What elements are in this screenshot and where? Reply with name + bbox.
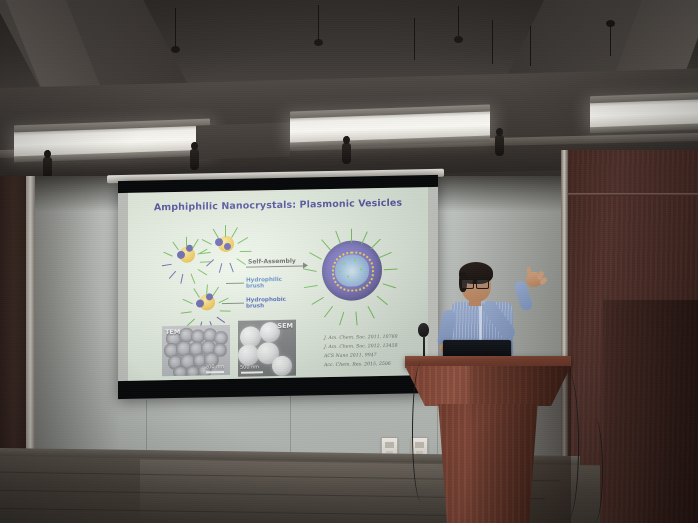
ceiling-drop-knob	[171, 46, 180, 53]
plasmonic-vesicle-figure	[314, 232, 390, 309]
polymer-brush	[309, 252, 322, 260]
polymer-brush	[220, 310, 231, 312]
ceiling-drop-knob	[454, 36, 463, 43]
spotlight	[43, 157, 52, 178]
polymer-brush	[231, 227, 238, 238]
hydrophobic-brush	[180, 274, 183, 284]
tem-micrograph: TEM 200 nm	[162, 325, 230, 376]
tem-scalebar-label: 200 nm	[205, 364, 224, 370]
sem-scalebar	[241, 371, 263, 373]
slide-references: J. Am. Chem. Soc. 2011, 10760 J. Am. Che…	[324, 334, 398, 371]
self-assembly-arrow-line	[246, 266, 304, 268]
polymer-brush	[172, 241, 179, 250]
hydrophobic-label-line2: brush	[246, 304, 264, 310]
ceiling-drop-rod	[458, 6, 459, 40]
polymer-brush	[213, 228, 220, 238]
polymer-brush	[367, 306, 375, 319]
polymer-brush	[193, 288, 200, 298]
sem-particle	[272, 356, 292, 376]
vesicle-inner-dot	[343, 263, 345, 265]
polymer-brush	[197, 269, 207, 276]
polymer-brush	[321, 239, 331, 250]
spotlight	[190, 149, 199, 170]
wood-column-left-trim	[26, 176, 35, 476]
polymer-brush	[236, 258, 246, 265]
wall-seam	[146, 400, 147, 456]
polymer-brush	[237, 237, 248, 244]
polymer-brush	[382, 283, 396, 288]
glasses-lens-left	[461, 279, 474, 289]
ceiling-drop-rod	[414, 18, 415, 60]
nanoparticle-figure-3	[190, 285, 224, 320]
polymer-brush	[311, 297, 324, 305]
wood-panel-shadow	[603, 300, 698, 523]
hydrophobic-brush-label: Hydrophobic brush	[246, 297, 286, 311]
hydrophilic-label-line2: brush	[246, 284, 264, 290]
hydrophobic-brush	[216, 317, 225, 324]
microphone-head	[418, 323, 429, 337]
hydrophilic-leader-line	[226, 283, 244, 284]
polymer-brush	[181, 311, 192, 314]
power-cable-right	[556, 370, 579, 520]
hydrophobic-label-line1: Hydrophobic	[246, 297, 286, 304]
lecture-hall-photo: Amphiphilic Nanocrystals: Plasmonic Vesi…	[0, 0, 698, 523]
nanoparticle-figure-2	[209, 227, 243, 262]
sem-micrograph: SEM 500 nm	[238, 320, 296, 377]
presentation-slide: Amphiphilic Nanocrystals: Plasmonic Vesi…	[128, 187, 428, 381]
glasses-icon	[461, 279, 491, 287]
hydrophilic-label-line1: Hydrophilic	[246, 277, 282, 284]
polymer-brush	[384, 269, 398, 271]
ceiling-drop-knob	[314, 39, 323, 46]
polymer-brush	[378, 252, 392, 259]
projector-screen: Amphiphilic Nanocrystals: Plasmonic Vesi…	[118, 175, 438, 399]
slide-letterbox-left	[118, 193, 128, 381]
polymer-brush	[190, 273, 195, 284]
polymer-brush	[304, 285, 318, 289]
self-assembly-label: Self-Assembly	[248, 258, 296, 266]
power-cable-far-right	[586, 418, 603, 523]
wall-seam	[290, 392, 291, 456]
reference-item: Acc. Chem. Res. 2015, 2506	[324, 361, 398, 371]
hydrophobic-brush	[206, 259, 214, 267]
slide-letterbox-right	[428, 187, 438, 375]
sem-tag: SEM	[277, 322, 293, 330]
fluorescent-fixture-right	[590, 98, 698, 128]
fluorescent-fixture-center	[290, 111, 490, 144]
wood-panel-seam	[562, 193, 698, 196]
ceiling-drop-rod	[318, 5, 319, 41]
power-cable-left	[412, 362, 431, 502]
spotlight	[342, 143, 351, 164]
vesicle-inner-dot	[347, 276, 349, 278]
sem-particle	[238, 344, 259, 365]
polymer-brush	[240, 251, 252, 253]
ceiling-panel-gap	[196, 122, 290, 159]
wall-plate-label	[385, 442, 394, 448]
polymer-brush	[200, 252, 211, 255]
polymer-brush	[163, 251, 173, 256]
hydrophobic-brush	[168, 271, 176, 279]
hydrophilic-brush-label: Hydrophilic brush	[246, 277, 282, 291]
polymer-brush	[376, 296, 388, 306]
polymer-brush	[303, 268, 317, 272]
polymer-brush	[339, 312, 345, 326]
vesicle-inner-dot	[339, 271, 341, 273]
tem-tag: TEM	[165, 328, 180, 336]
tem-scalebar	[206, 371, 224, 373]
polymer-brush	[370, 239, 381, 250]
slide-title: Amphiphilic Nanocrystals: Plasmonic Vesi…	[128, 197, 428, 214]
polymer-brush	[324, 306, 334, 318]
polymer-brush	[192, 239, 199, 249]
spotlight	[495, 135, 504, 156]
sem-scalebar-label: 500 nm	[240, 364, 259, 370]
hydrophobic-brush	[218, 263, 222, 273]
polymer-brush	[355, 311, 358, 325]
ceiling-drop-rod	[530, 26, 531, 66]
speaker-finger	[526, 267, 531, 275]
polymer-brush	[335, 230, 341, 244]
polymer-brush	[183, 298, 193, 304]
glasses-lens-right	[476, 279, 489, 289]
ceiling-drop-rod	[610, 26, 611, 56]
nanoparticle-figure-1	[170, 237, 204, 272]
ceiling-drop-rod	[175, 8, 176, 48]
hydrophobic-brush	[229, 263, 234, 273]
hydrophobic-leader-line	[222, 303, 244, 304]
vesicle-inner-dot	[360, 268, 362, 270]
ceiling-drop-rod	[492, 20, 493, 64]
polymer-brush	[212, 287, 219, 297]
hydrophobic-brush	[162, 263, 172, 266]
vesicle-inner-dot	[354, 260, 356, 262]
